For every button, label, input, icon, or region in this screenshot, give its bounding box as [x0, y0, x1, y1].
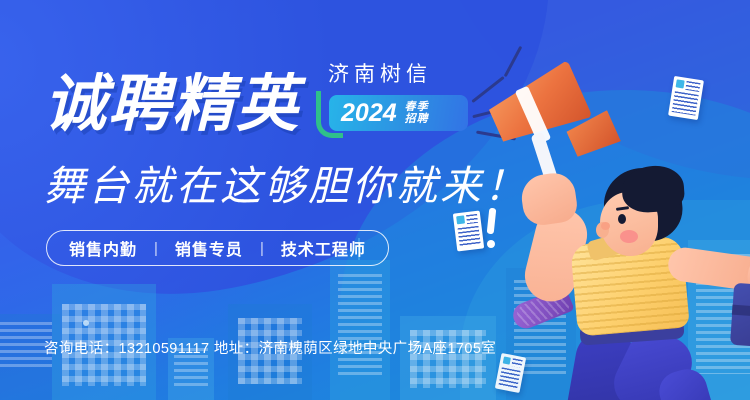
job-separator-1: |: [154, 240, 158, 257]
badge-sub-char-1: 春: [405, 101, 416, 113]
year-badge: 2024 春 季 招 聘: [329, 95, 468, 131]
badge-sub-char-4: 聘: [417, 113, 428, 125]
job-separator-2: |: [260, 240, 264, 257]
job-position-2: 销售专员: [175, 236, 243, 260]
subtitle: 舞台就在这够胆你就来！: [44, 152, 528, 212]
year-badge-wrap: 2024 春 季 招 聘: [316, 95, 468, 132]
badge-column: 济南树信 2024 春 季 招 聘: [316, 58, 468, 136]
badge-sub-char-2: 季: [417, 101, 428, 113]
job-positions-pill: 销售内勤 | 销售专员 | 技术工程师: [46, 230, 389, 266]
job-position-1: 销售内勤: [69, 236, 137, 260]
banner-content: 诚聘精英 济南树信 2024 春 季 招 聘: [0, 0, 750, 400]
badge-subtext: 春 季 招 聘: [405, 101, 428, 125]
contact-info: 咨询电话：13210591117 地址：济南槐荫区绿地中央广场A座1705室: [44, 337, 496, 358]
job-position-3: 技术工程师: [281, 236, 366, 260]
badge-year: 2024: [341, 99, 397, 128]
company-name: 济南树信: [316, 58, 468, 88]
badge-sub-char-3: 招: [405, 113, 416, 125]
headline-row: 诚聘精英 济南树信 2024 春 季 招 聘: [44, 58, 468, 136]
recruitment-banner: 诚聘精英 济南树信 2024 春 季 招 聘: [0, 0, 750, 400]
page-title: 诚聘精英: [44, 74, 300, 136]
